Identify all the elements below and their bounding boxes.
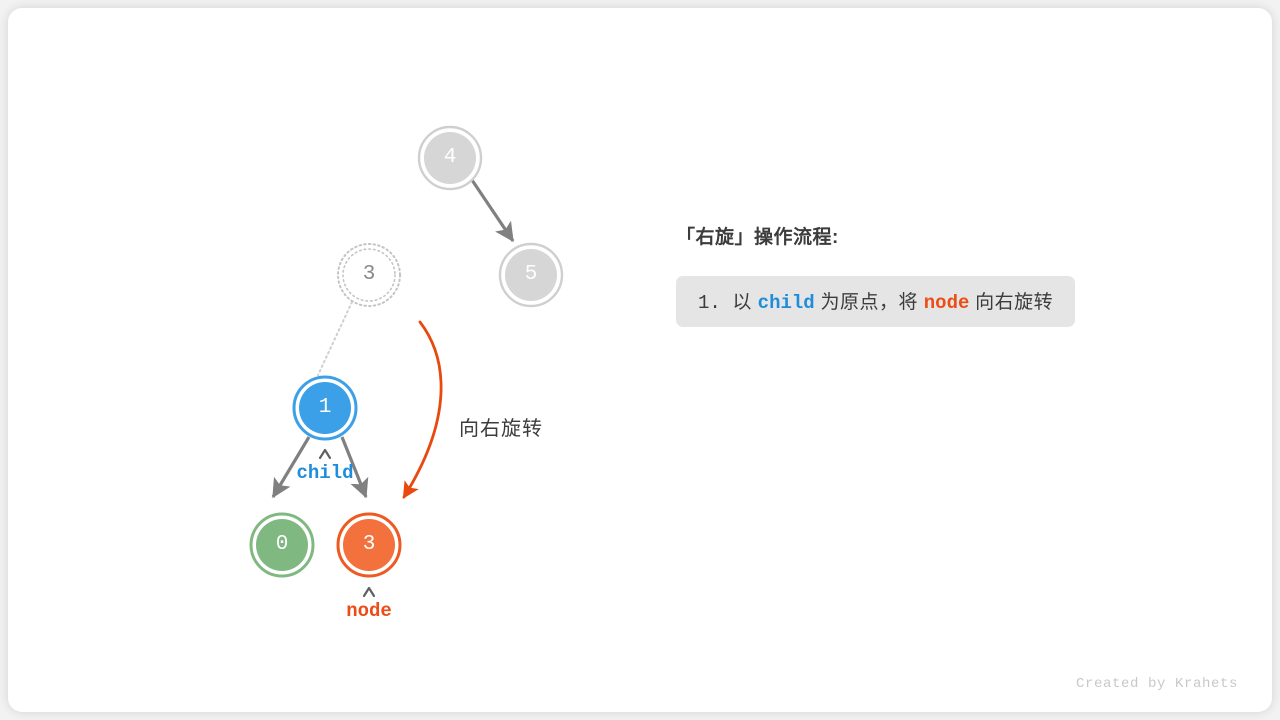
panel-title: 「右旋」操作流程: [676, 222, 1216, 249]
binary-tree-diagram [0, 0, 1280, 720]
pointer-label-node: node [319, 600, 419, 622]
edge-ghost-3-to-1 [318, 302, 352, 375]
step-keyword-node: node [924, 292, 970, 314]
figure-canvas: 4 5 3 1 0 3 child node 向右旋转 「右旋」操作流程: 1.… [0, 0, 1280, 720]
rotate-curve-icon [404, 322, 441, 497]
step-text-part1: 以 [732, 292, 752, 313]
credit-text: Created by Krahets [1076, 676, 1238, 692]
edge-4-to-5 [472, 180, 513, 241]
pointer-label-child: child [275, 462, 375, 484]
caret-node-icon [364, 588, 374, 596]
tree-node-0[interactable] [251, 514, 313, 576]
tree-node-3[interactable] [338, 514, 400, 576]
tree-node-4[interactable] [419, 127, 481, 189]
step-index: 1. [698, 292, 721, 314]
tree-node-5[interactable] [500, 244, 562, 306]
tree-node-3-ghost[interactable] [338, 244, 400, 306]
explanation-panel: 「右旋」操作流程: 1. 以 child 为原点，将 node 向右旋转 [676, 222, 1216, 327]
tree-nodes [251, 127, 562, 576]
caret-child-icon [320, 450, 330, 458]
tree-node-1[interactable] [294, 377, 356, 439]
rotate-arrow-label: 向右旋转 [459, 412, 543, 441]
rotation-arrow [404, 322, 441, 497]
step-text-part2: 为原点，将 [820, 292, 918, 313]
step-keyword-child: child [758, 292, 815, 314]
tree-edges [273, 180, 513, 497]
step-text-part3: 向右旋转 [975, 292, 1053, 313]
step-item-1: 1. 以 child 为原点，将 node 向右旋转 [676, 276, 1075, 327]
